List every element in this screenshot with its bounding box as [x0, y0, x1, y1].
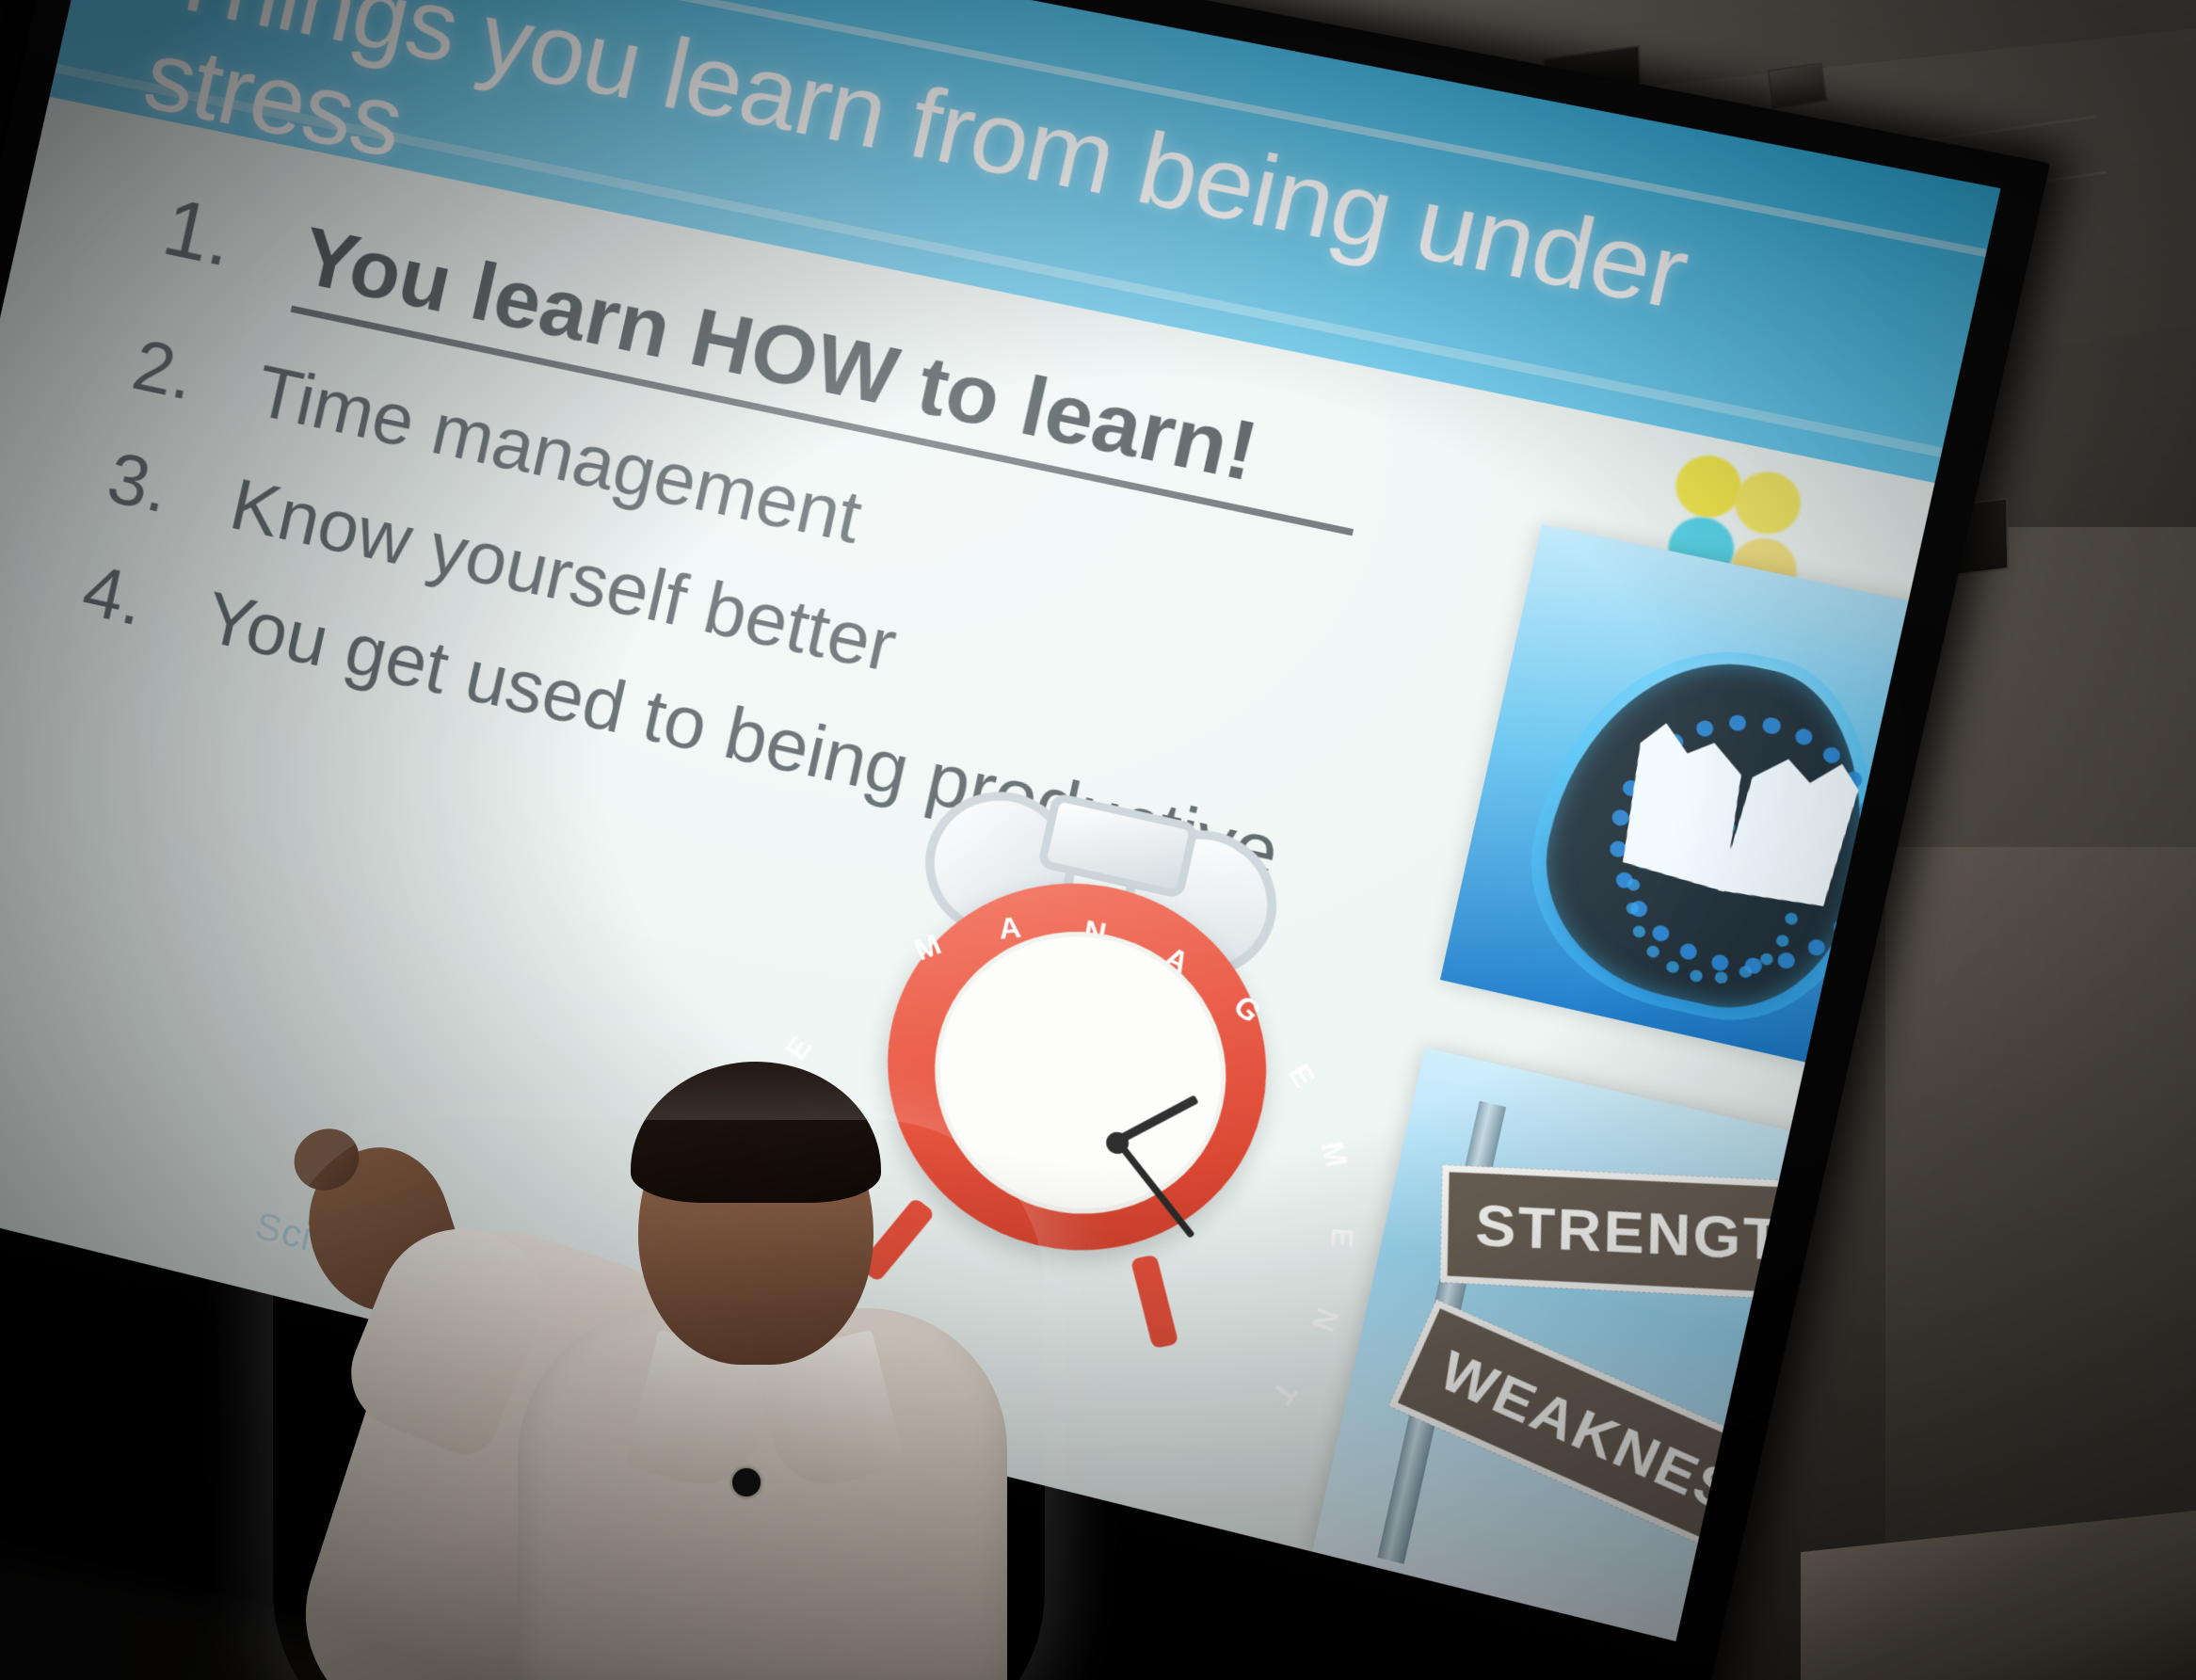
presenter-hair	[631, 1062, 881, 1203]
clock-ring-char: E	[1280, 1060, 1321, 1094]
lapel-microphone-icon	[732, 1468, 761, 1496]
ceiling-vent-icon	[1767, 62, 1827, 109]
photo-scene: Things you learn from being under stress…	[0, 0, 2196, 1680]
presenter	[405, 1026, 1177, 1680]
list-item-number: 1.	[155, 181, 313, 302]
logo-dot-yellow-2-icon	[1729, 466, 1807, 539]
clock-ring-char: N	[1304, 1303, 1344, 1336]
clock-ring-char: M	[1313, 1139, 1354, 1170]
clock-ring-char: E	[1322, 1226, 1359, 1249]
list-item-number: 3.	[101, 436, 242, 544]
list-item-number: 4.	[75, 549, 216, 658]
list-item-number: 2.	[125, 324, 266, 432]
clock-ring-char: G	[1226, 990, 1267, 1031]
clock-ring-char: A	[997, 911, 1022, 946]
clock-ring-char: T	[1264, 1374, 1304, 1410]
clock-ring-char: M	[910, 928, 947, 968]
